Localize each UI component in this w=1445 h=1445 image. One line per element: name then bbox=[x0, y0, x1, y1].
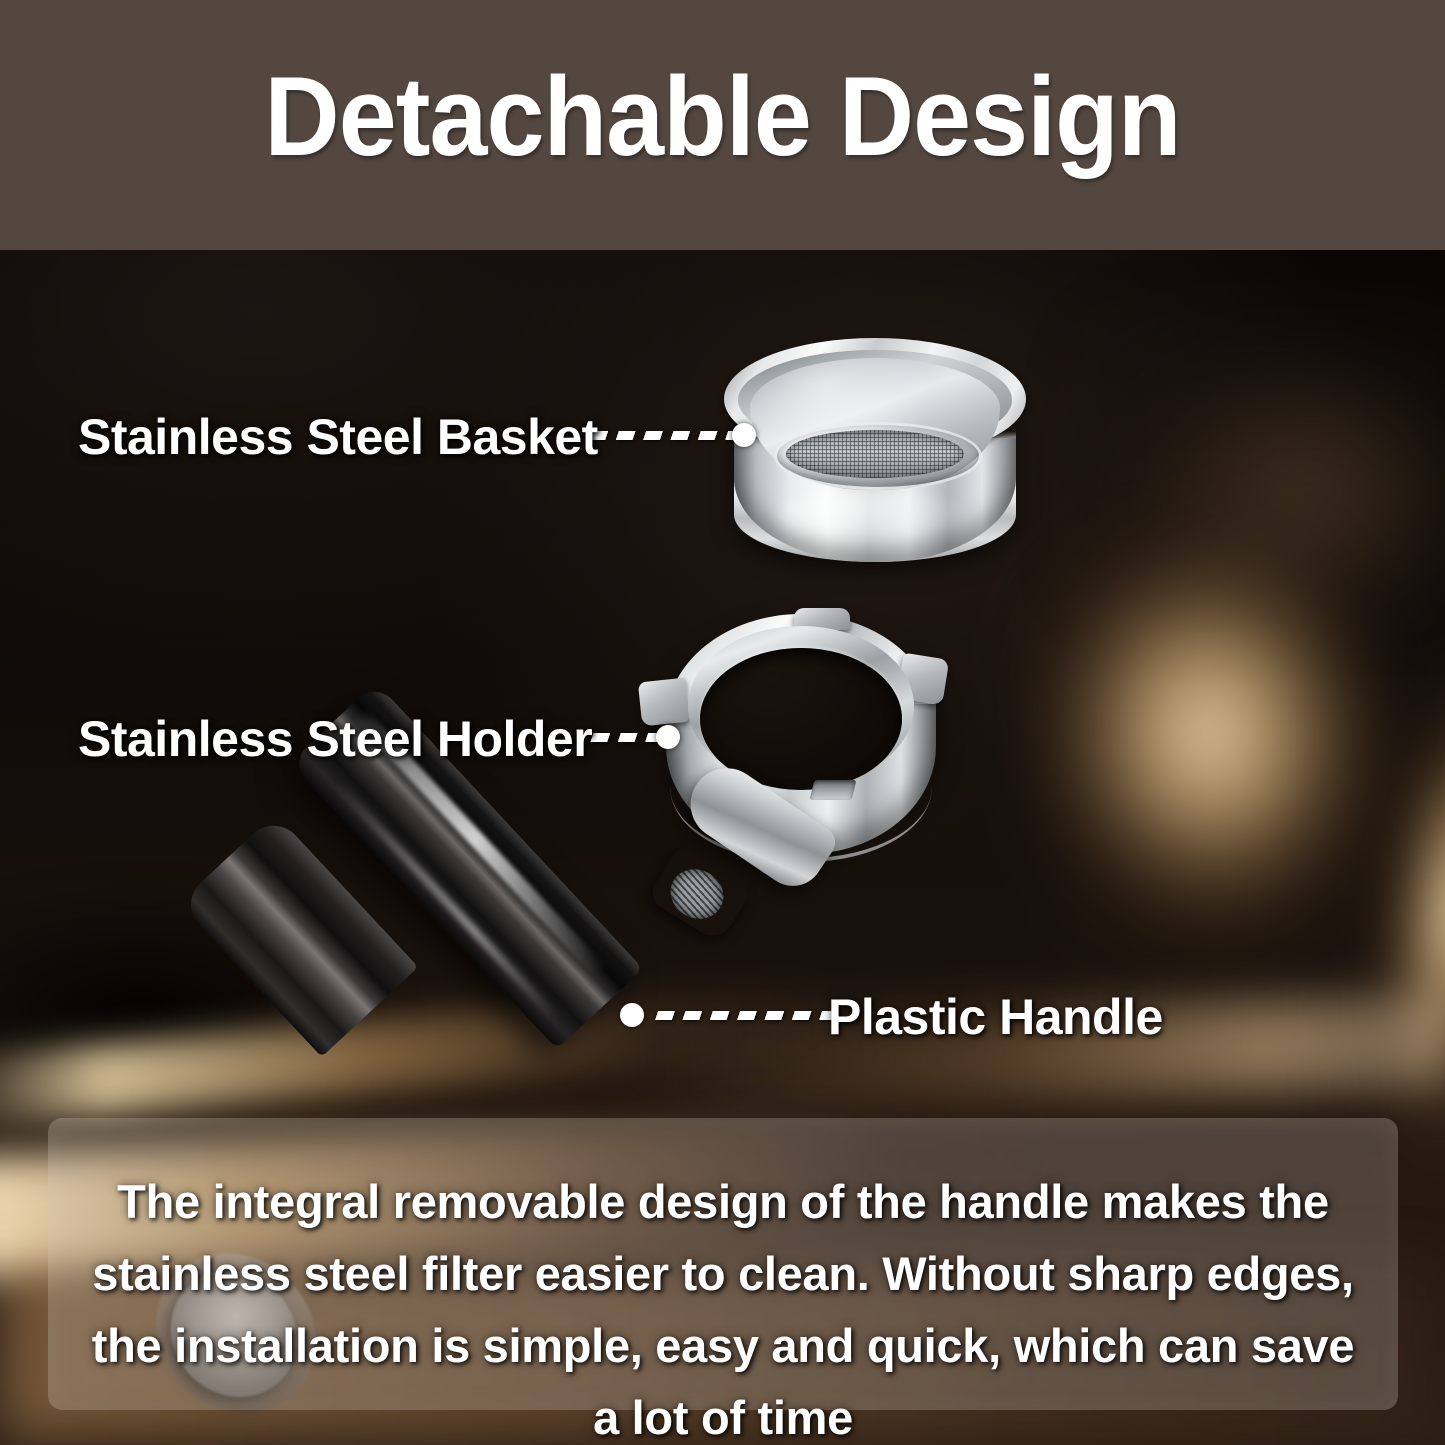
stainless-steel-holder-illustration bbox=[626, 608, 962, 938]
stainless-steel-basket-illustration bbox=[716, 338, 1034, 568]
page-title: Detachable Design bbox=[51, 62, 1395, 172]
callout-label-plastic-handle: Plastic Handle bbox=[828, 988, 1163, 1046]
leader-dot-holder bbox=[656, 725, 680, 749]
header-bar: Detachable Design bbox=[0, 0, 1445, 250]
holder-notch bbox=[810, 780, 857, 800]
leader-line-basket bbox=[592, 428, 762, 442]
holder-lug-left bbox=[638, 678, 690, 727]
callout-label-stainless-steel-basket: Stainless Steel Basket bbox=[78, 408, 598, 466]
basket-filter-mesh bbox=[786, 430, 964, 478]
caption-text: The integral removable design of the han… bbox=[88, 1166, 1358, 1445]
callout-label-stainless-steel-holder: Stainless Steel Holder bbox=[78, 710, 592, 768]
leader-dot-basket bbox=[732, 423, 756, 447]
leader-dashes-handle bbox=[650, 1011, 836, 1020]
basket-highlight bbox=[776, 488, 966, 548]
caption-panel: The integral removable design of the han… bbox=[48, 1118, 1398, 1410]
leader-dot-handle bbox=[620, 1003, 644, 1027]
leader-line-holder bbox=[578, 730, 688, 744]
leader-line-handle bbox=[620, 1008, 832, 1022]
infographic-canvas: Stainless Steel Basket Stainless Steel H… bbox=[0, 0, 1445, 1445]
leader-dashes-basket bbox=[592, 431, 742, 440]
